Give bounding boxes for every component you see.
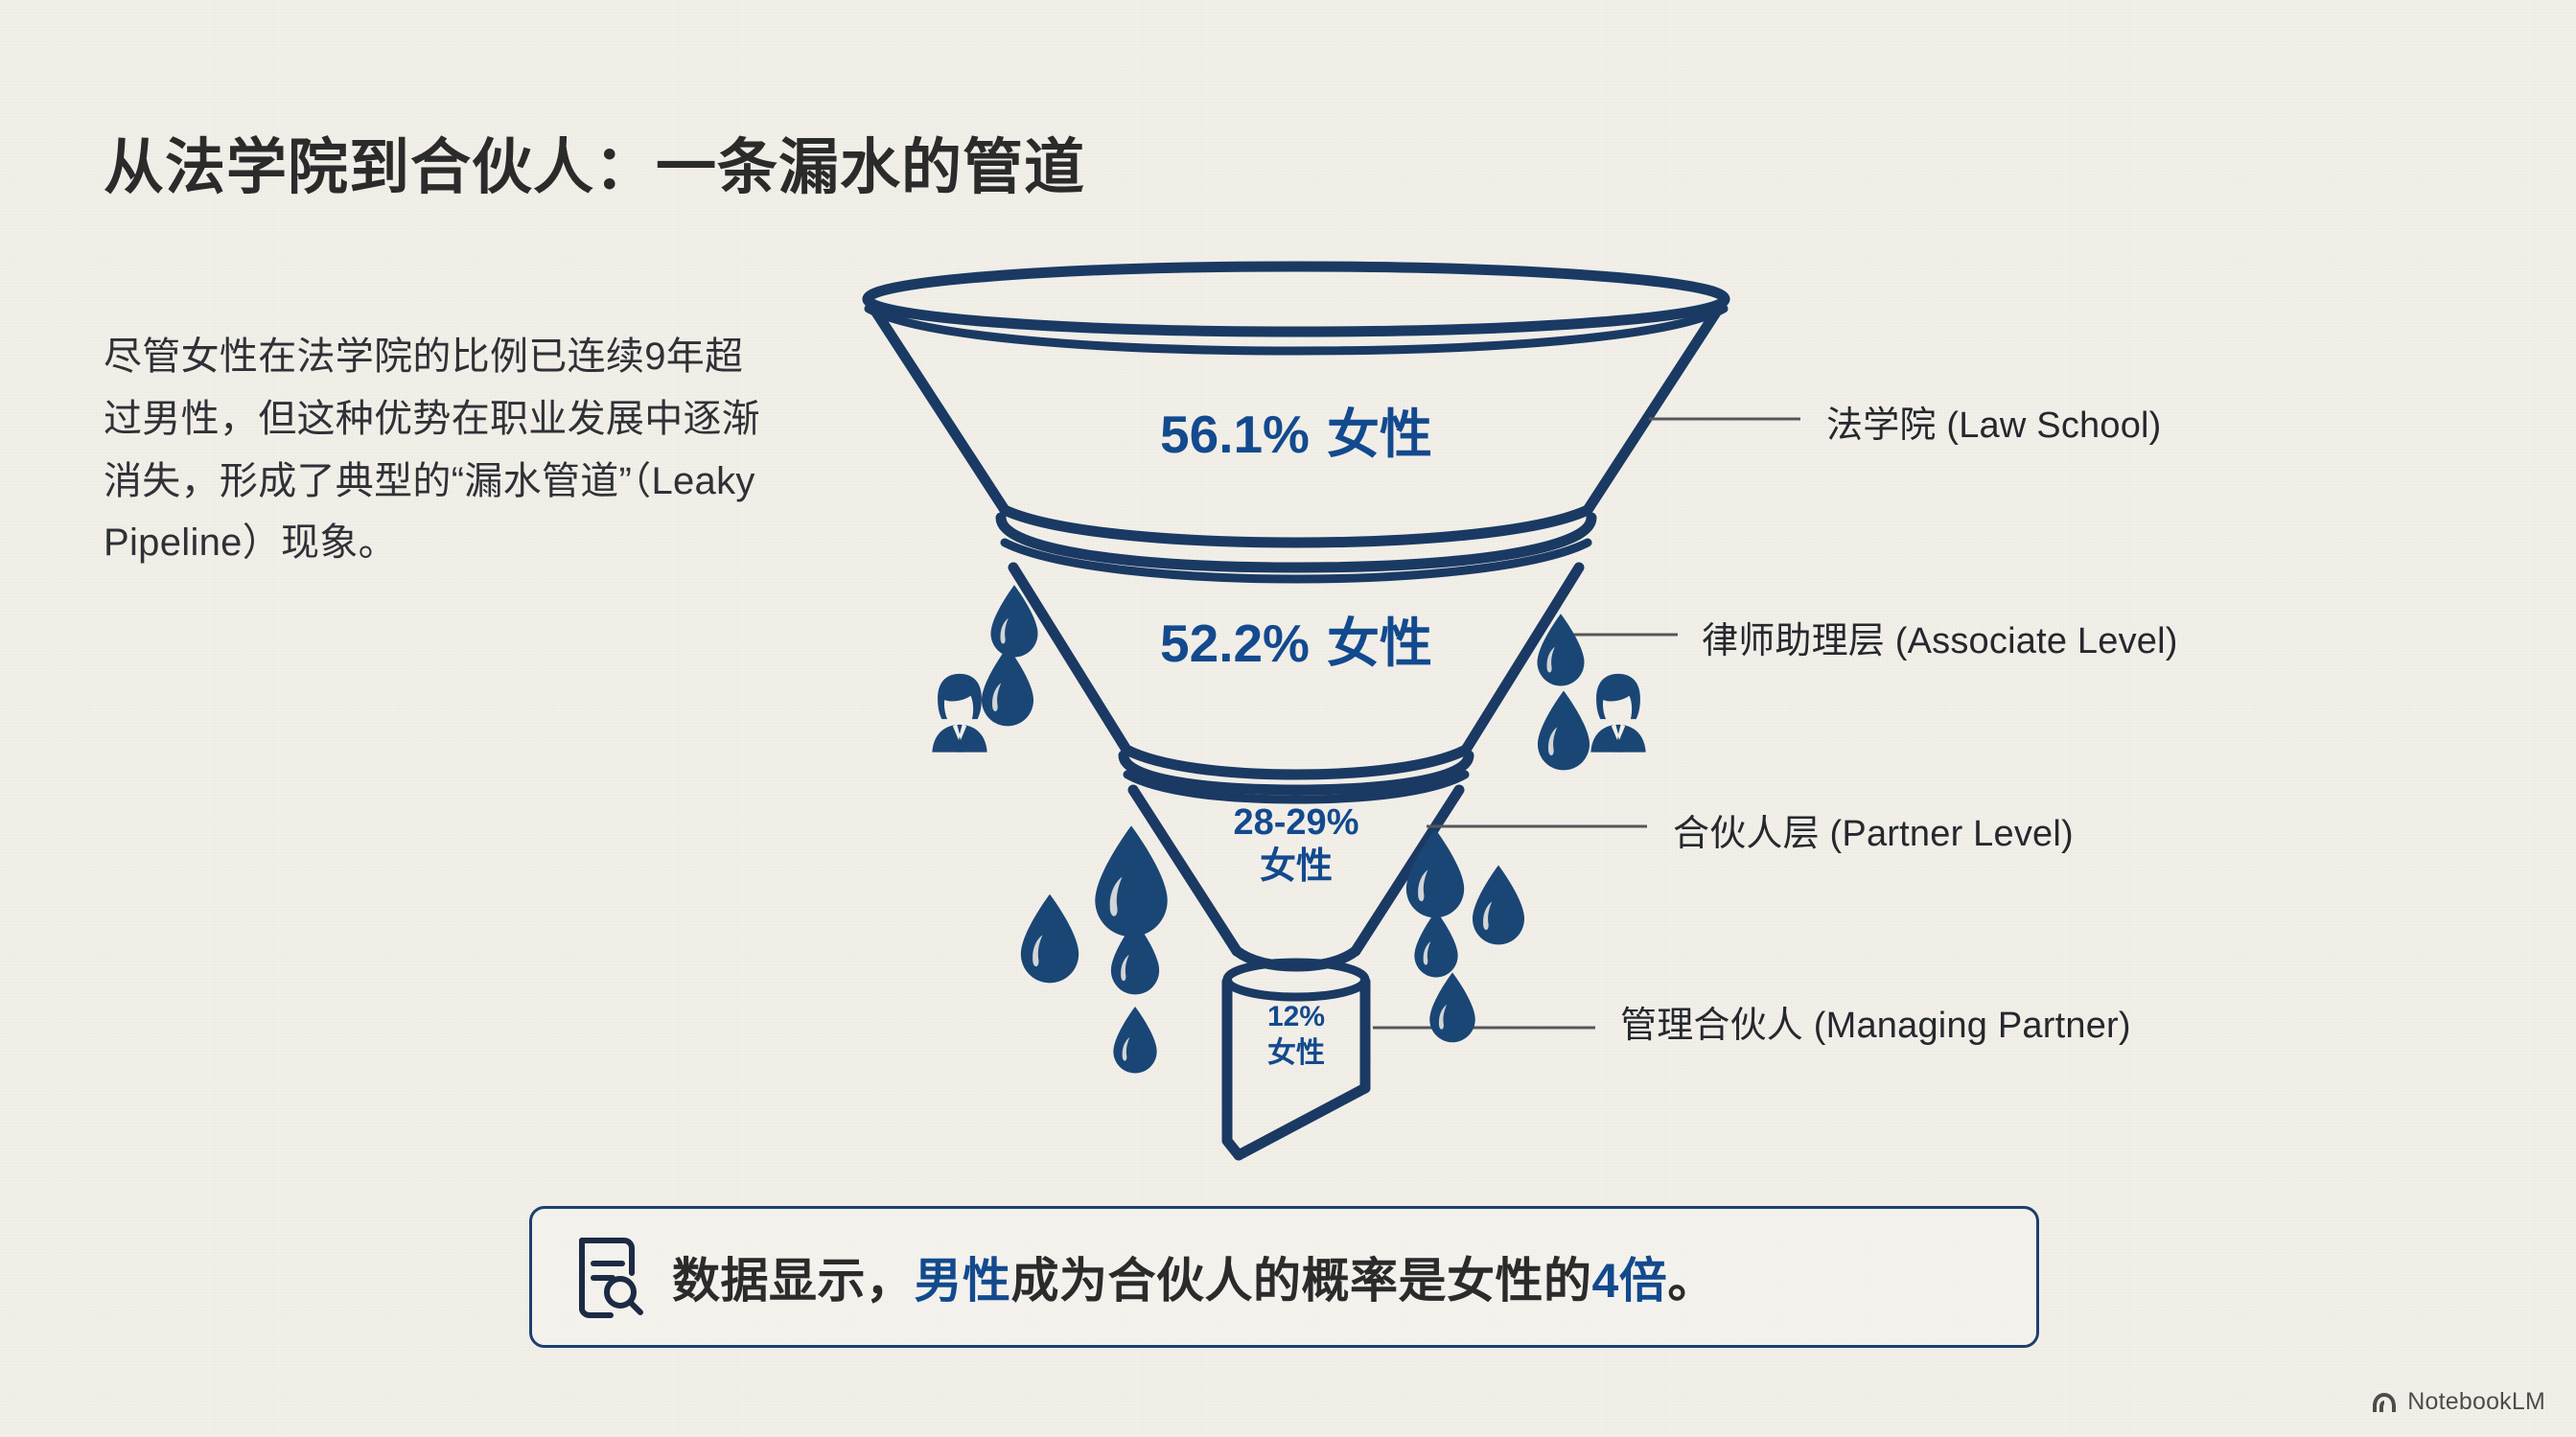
funnel-value-partner: 28-29% <box>1234 802 1359 843</box>
funnel-label-law-school: 法学院 (Law School) <box>1826 395 2162 448</box>
funnel-suffix-partner: 女性 <box>1260 846 1333 887</box>
funnel-label-managing-partner: 管理合伙人 (Managing Partner) <box>1620 995 2131 1048</box>
notebooklm-logo-icon <box>2370 1390 2399 1415</box>
funnel-value-managing-partner: 12% <box>1267 1001 1325 1032</box>
droplet-icon <box>1095 825 1167 937</box>
droplet-icon <box>1406 829 1464 918</box>
droplet-icon <box>1473 865 1524 944</box>
callout-suffix: 。 <box>1667 1254 1716 1308</box>
callout-prefix: 数据显示， <box>672 1254 915 1308</box>
droplet-icon <box>1414 911 1457 977</box>
funnel-value-associate: 52.2% <box>1160 614 1310 673</box>
funnel-label-partner: 合伙人层 (Partner Level) <box>1673 803 2074 856</box>
callout-middle: 成为合伙人的概率是女性的 <box>1011 1254 1592 1308</box>
callout-highlight-multiplier: 4倍 <box>1592 1254 1668 1308</box>
droplet-icon <box>1538 690 1590 770</box>
businesswoman-icon-left <box>932 674 986 753</box>
businesswoman-icon-right <box>1590 674 1645 753</box>
droplet-icon <box>1113 1007 1156 1073</box>
document-search-icon <box>572 1235 645 1319</box>
notebooklm-watermark: NotebookLM <box>2370 1388 2545 1416</box>
droplet-icon <box>982 646 1033 726</box>
funnel-suffix-law-school: 女性 <box>1327 405 1432 464</box>
funnel-label-associate: 律师助理层 (Associate Level) <box>1702 611 2178 663</box>
droplet-icon <box>1021 894 1079 984</box>
callout-text: 数据显示，男性成为合伙人的概率是女性的4倍。 <box>672 1242 1716 1311</box>
callout-highlight-male: 男性 <box>915 1254 1011 1308</box>
funnel-suffix-associate: 女性 <box>1327 614 1432 673</box>
funnel-suffix-managing-partner: 女性 <box>1267 1036 1325 1069</box>
callout-box: 数据显示，男性成为合伙人的概率是女性的4倍。 <box>529 1206 2039 1348</box>
watermark-text: NotebookLM <box>2407 1388 2545 1416</box>
droplet-icon <box>1429 972 1475 1042</box>
funnel-value-law-school: 56.1% <box>1160 405 1310 464</box>
